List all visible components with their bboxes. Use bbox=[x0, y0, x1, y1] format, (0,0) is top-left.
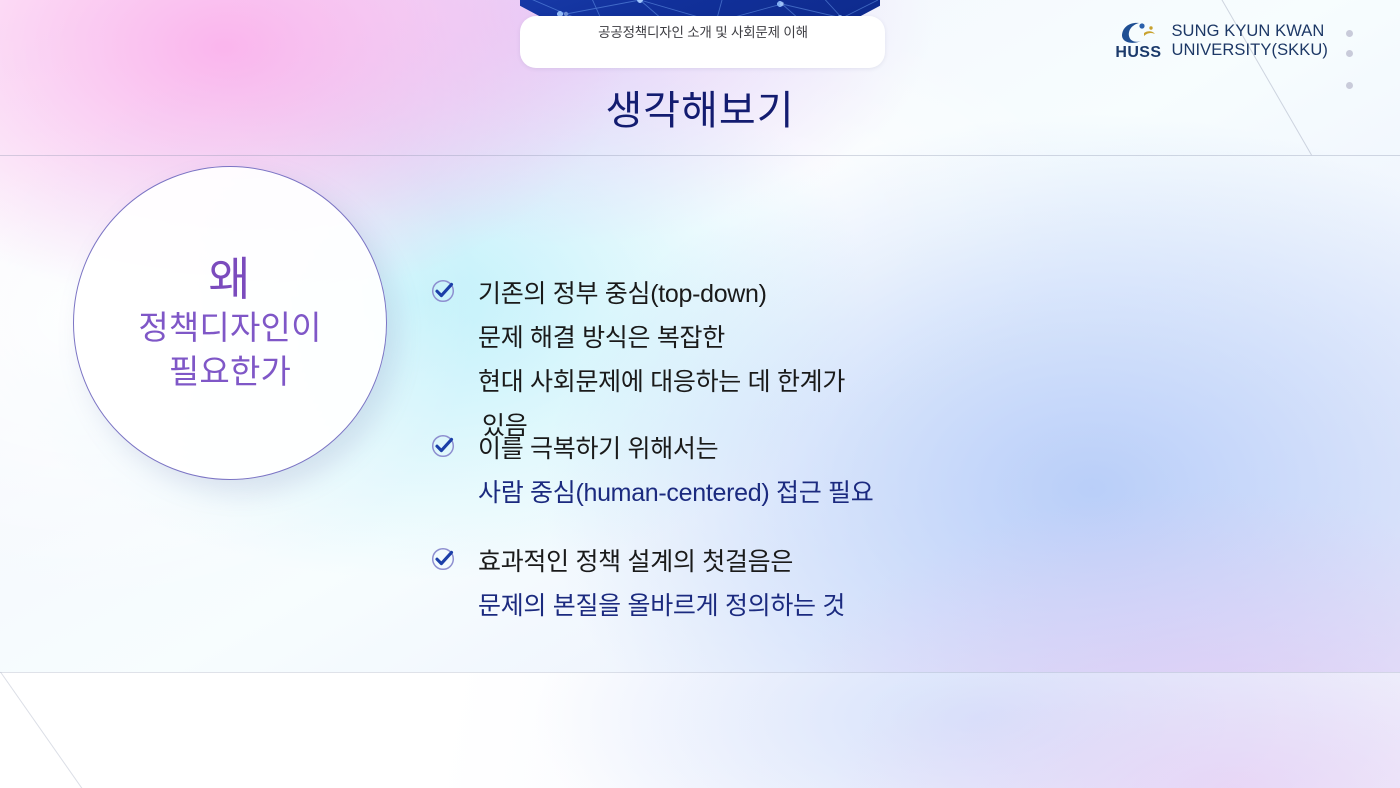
bullet-item-2-text: 이를 극복하기 위해서는 사람 중심(human-centered) 접근 필요 bbox=[478, 427, 873, 515]
slide-root: 공공정책디자인 소개 및 사회문제 이해 HUSS SUNG KYUN KWAN… bbox=[0, 0, 1400, 788]
why-policy-design-circle: 왜 정책디자인이 필요한가 bbox=[73, 166, 387, 480]
dot-2 bbox=[1346, 50, 1353, 57]
skku-huss-logo: HUSS SUNG KYUN KWAN UNIVERSITY(SKKU) bbox=[1115, 20, 1328, 61]
circle-subtext-line2: 필요한가 bbox=[138, 350, 321, 394]
circle-subtext: 정책디자인이 필요한가 bbox=[138, 306, 321, 394]
bullet-item-1: 기존의 정부 중심(top-down) 문제 해결 방식은 복잡한 현대 사회문… bbox=[430, 272, 845, 404]
check-circle-icon bbox=[430, 278, 456, 304]
bullet-2-line-2: 사람 중심(human-centered) 접근 필요 bbox=[478, 471, 873, 515]
crescent-wave-icon bbox=[1118, 20, 1158, 44]
dot-1 bbox=[1346, 30, 1353, 37]
bullet-1-line-3: 현대 사회문제에 대응하는 데 한계가 bbox=[478, 360, 845, 404]
bullet-1-line-1: 기존의 정부 중심(top-down) bbox=[478, 272, 845, 316]
bullet-1-line-2: 문제 해결 방식은 복잡한 bbox=[478, 316, 845, 360]
bullet-3-line-1: 효과적인 정책 설계의 첫걸음은 bbox=[478, 540, 845, 584]
divider-line-bottom bbox=[0, 672, 1400, 673]
university-name-line2: UNIVERSITY(SKKU) bbox=[1171, 41, 1328, 60]
header-banner: 공공정책디자인 소개 및 사회문제 이해 bbox=[500, 0, 900, 70]
huss-mark: HUSS bbox=[1115, 20, 1161, 61]
subject-label: 공공정책디자인 소개 및 사회문제 이해 bbox=[528, 24, 878, 42]
bullet-item-3-text: 효과적인 정책 설계의 첫걸음은 문제의 본질을 올바르게 정의하는 것 bbox=[478, 540, 845, 628]
huss-wordmark: HUSS bbox=[1115, 45, 1161, 61]
bullet-3-line-2: 문제의 본질을 올바르게 정의하는 것 bbox=[478, 584, 845, 628]
background-bottom-band bbox=[0, 672, 1400, 788]
check-circle-icon bbox=[430, 433, 456, 459]
circle-lead-text: 왜 bbox=[208, 252, 251, 306]
bullet-item-3: 효과적인 정책 설계의 첫걸음은 문제의 본질을 올바르게 정의하는 것 bbox=[430, 540, 845, 628]
bullet-2-line-1: 이를 극복하기 위해서는 bbox=[478, 427, 873, 471]
check-circle-icon bbox=[430, 546, 456, 572]
university-name-line1: SUNG KYUN KWAN bbox=[1171, 22, 1328, 41]
university-name: SUNG KYUN KWAN UNIVERSITY(SKKU) bbox=[1171, 22, 1328, 60]
divider-line-top bbox=[0, 155, 1400, 156]
circle-subtext-line1: 정책디자인이 bbox=[138, 306, 321, 350]
page-title: 생각해보기 bbox=[0, 85, 1400, 137]
bullet-item-2: 이를 극복하기 위해서는 사람 중심(human-centered) 접근 필요 bbox=[430, 427, 873, 515]
bullet-item-1-text: 기존의 정부 중심(top-down) 문제 해결 방식은 복잡한 현대 사회문… bbox=[478, 272, 845, 404]
